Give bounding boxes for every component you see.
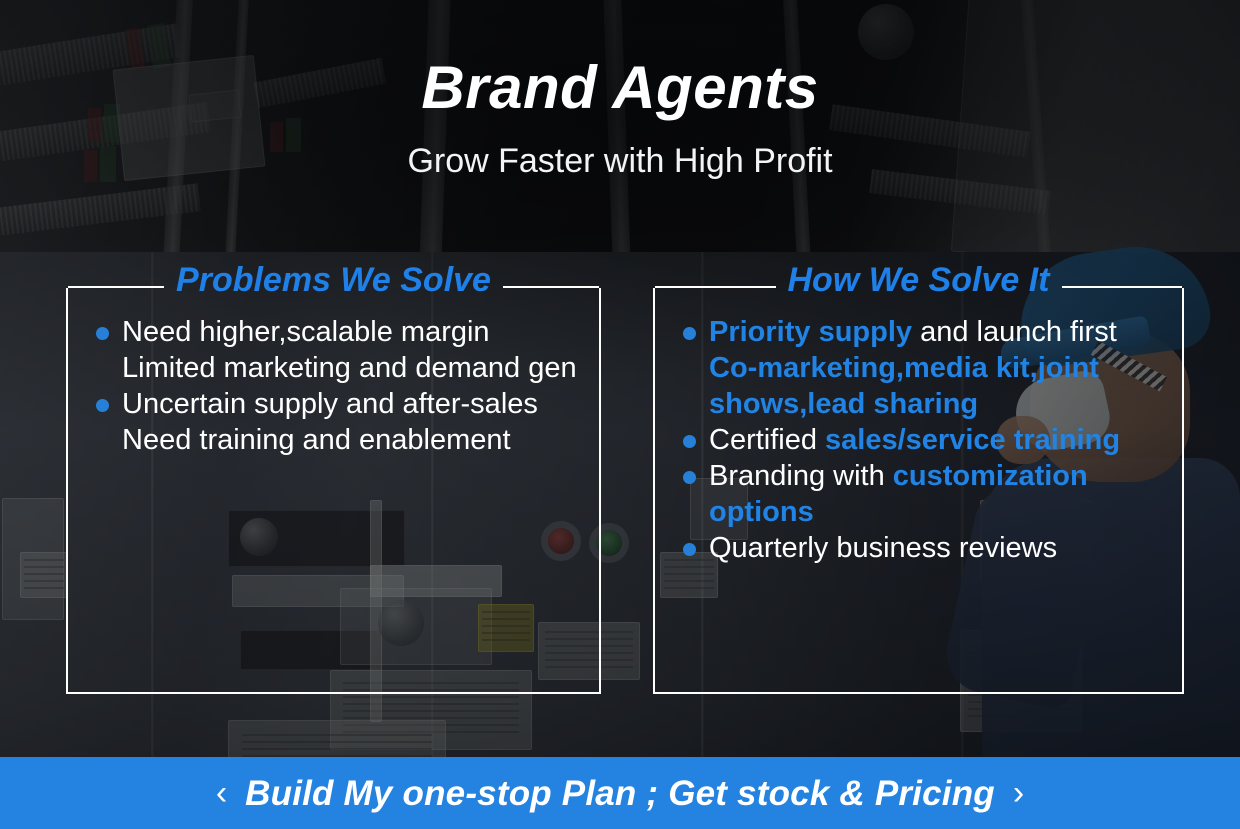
bullet-icon bbox=[96, 399, 109, 412]
panel-border-segment-left bbox=[655, 286, 776, 288]
marketing-poster: Brand Agents Grow Faster with High Profi… bbox=[0, 0, 1240, 829]
list-item-highlight: customization bbox=[893, 460, 1088, 492]
list-item-text: Need higher,scalable margin Limited mark… bbox=[122, 316, 593, 386]
list-item-line-2: options bbox=[709, 494, 1176, 530]
cta-label[interactable]: Build My one-stop Plan ; Get stock & Pri… bbox=[245, 776, 995, 811]
list-item-text: Quarterly business reviews bbox=[709, 532, 1057, 564]
bullet-icon bbox=[683, 327, 696, 340]
solutions-panel-heading: How We Solve It bbox=[774, 263, 1064, 297]
solutions-list: Priority supply and launch first Co-mark… bbox=[669, 314, 1176, 566]
list-item-plain: Certified bbox=[709, 424, 825, 456]
list-item: Priority supply and launch first Co-mark… bbox=[669, 314, 1176, 422]
list-item-plain: Quarterly business reviews bbox=[709, 532, 1057, 564]
solutions-panel: How We Solve It Priority supply and laun… bbox=[653, 288, 1184, 694]
panel-border-segment-left bbox=[68, 286, 164, 288]
list-item: Quarterly business reviews bbox=[669, 530, 1176, 566]
list-item: Uncertain supply and after-sales Need tr… bbox=[82, 386, 593, 458]
list-item-line-1: Uncertain supply and after-sales bbox=[122, 388, 538, 420]
list-item-line-2: Co-marketing,media kit,joint bbox=[709, 350, 1176, 386]
problems-panel-heading: Problems We Solve bbox=[162, 263, 505, 297]
list-item: Need higher,scalable margin Limited mark… bbox=[82, 314, 593, 386]
list-item-line-2: Need training and enablement bbox=[122, 422, 593, 458]
list-item-text: Branding with customization options bbox=[709, 460, 1176, 530]
list-item-highlight: Priority supply bbox=[709, 316, 912, 348]
bullet-icon bbox=[683, 471, 696, 484]
problems-panel: Problems We Solve Need higher,scalable m… bbox=[66, 288, 601, 694]
list-item-text: Uncertain supply and after-sales Need tr… bbox=[122, 388, 593, 458]
problems-list: Need higher,scalable margin Limited mark… bbox=[82, 314, 593, 458]
page-title: Brand Agents bbox=[0, 58, 1240, 118]
chevron-left-icon: ‹ bbox=[216, 776, 227, 810]
cta-bar[interactable]: ‹ Build My one-stop Plan ; Get stock & P… bbox=[0, 757, 1240, 829]
list-item-plain: Branding with bbox=[709, 460, 893, 492]
panel-border-segment-right bbox=[503, 286, 599, 288]
list-item-line-2: Limited marketing and demand gen bbox=[122, 350, 593, 386]
list-item: Certified sales/service training bbox=[669, 422, 1176, 458]
bullet-icon bbox=[96, 327, 109, 340]
bullet-icon bbox=[683, 435, 696, 448]
list-item: Branding with customization options bbox=[669, 458, 1176, 530]
list-item-plain: and launch first bbox=[912, 316, 1117, 348]
list-item-line-1: Need higher,scalable margin bbox=[122, 316, 490, 348]
poster-header: Brand Agents Grow Faster with High Profi… bbox=[0, 58, 1240, 178]
list-item-line-3: shows,lead sharing bbox=[709, 386, 1176, 422]
chevron-right-icon: › bbox=[1013, 776, 1024, 810]
bullet-icon bbox=[683, 543, 696, 556]
list-item-text: Certified sales/service training bbox=[709, 424, 1120, 456]
list-item-text: Priority supply and launch first Co-mark… bbox=[709, 316, 1176, 422]
panel-border-segment-right bbox=[1062, 286, 1183, 288]
list-item-highlight: sales/service training bbox=[825, 424, 1120, 456]
page-subtitle: Grow Faster with High Profit bbox=[0, 144, 1240, 178]
